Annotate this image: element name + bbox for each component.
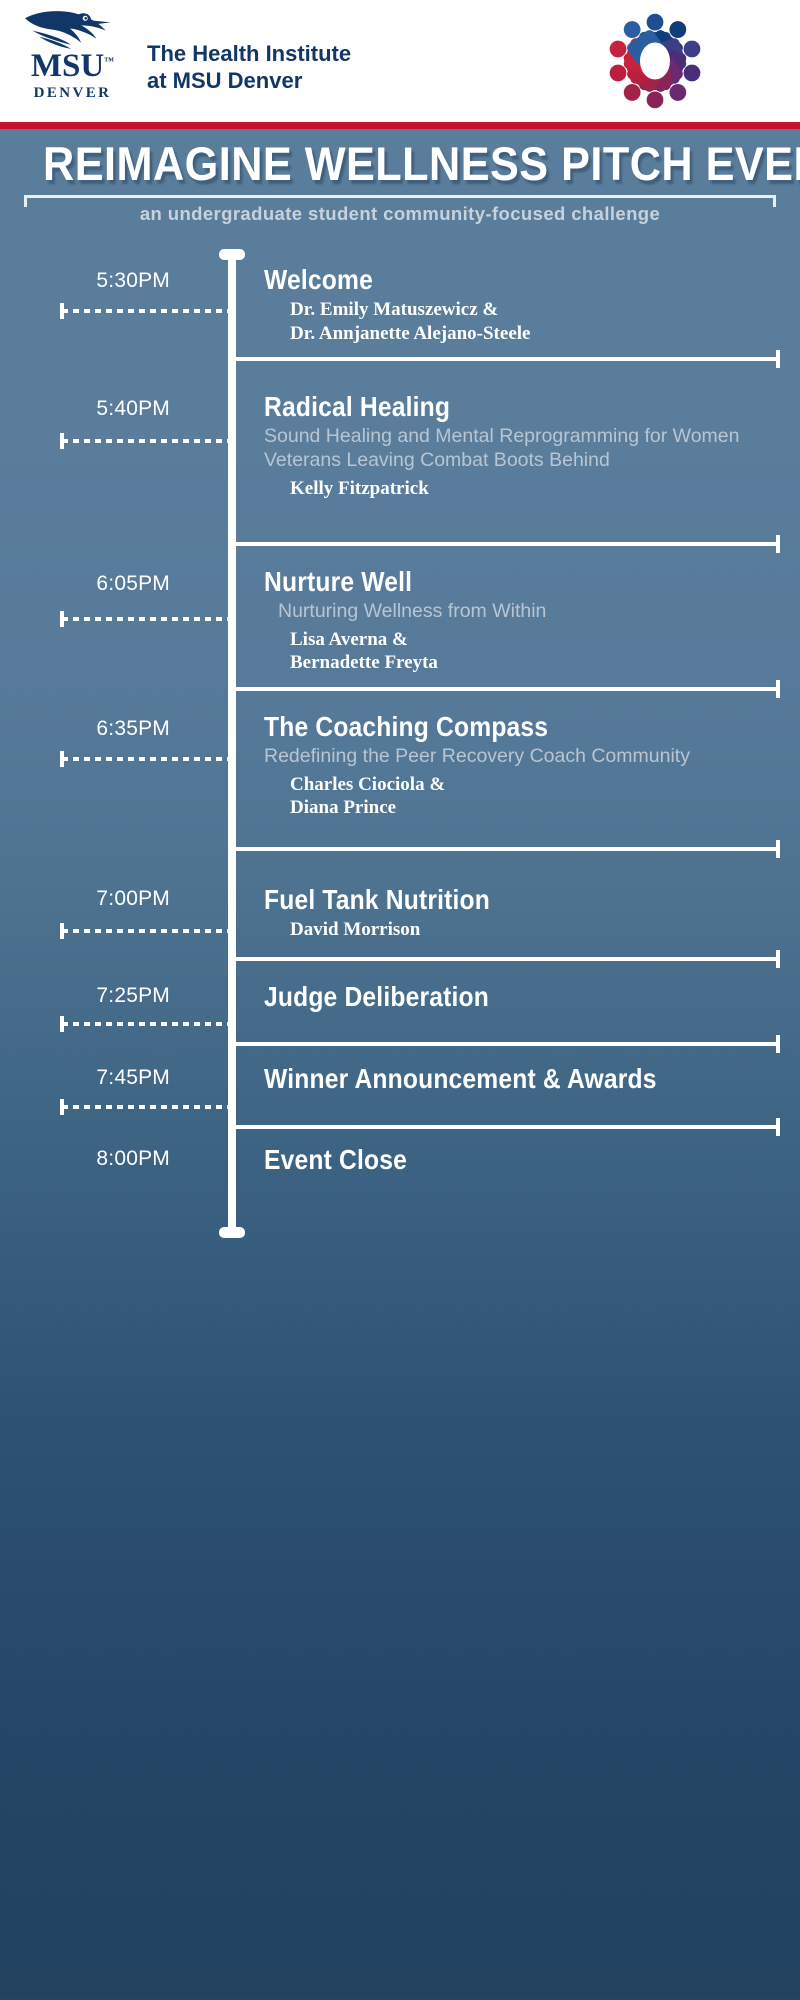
presenter-name: Charles Ciociola & [290, 773, 784, 796]
entry-separator-cap [776, 1118, 780, 1136]
page-header: MSU™ DENVER The Health Institute at MSU … [0, 0, 800, 122]
entry-description: Nurturing Wellness from Within [278, 600, 784, 624]
msu-wordmark: MSU™ [31, 50, 114, 83]
entry-content: Nurture WellNurturing Wellness from With… [264, 567, 784, 675]
presenter-name: Bernadette Freyta [290, 651, 784, 674]
entry-title: Judge Deliberation [264, 982, 722, 1011]
msu-denver-brand-lockup: MSU™ DENVER The Health Institute at MSU … [20, 8, 351, 103]
entry-description: Redefining the Peer Recovery Coach Commu… [264, 745, 784, 769]
msu-roadrunner-icon [22, 8, 124, 50]
red-accent-rule [0, 122, 800, 129]
entry-separator-cap [776, 950, 780, 968]
entry-time: 7:00PM [0, 887, 170, 911]
entry-separator [232, 542, 780, 546]
presenter-name: David Morrison [290, 918, 784, 941]
entry-title: Welcome [264, 265, 722, 294]
presenter-name: Dr. Emily Matuszewicz & [290, 298, 784, 321]
institute-name: The Health Institute at MSU Denver [147, 40, 351, 103]
presenter-name: Dr. Annjanette Alejano-Steele [290, 322, 784, 345]
entry-time: 7:45PM [0, 1066, 170, 1090]
entry-presenters: Lisa Averna &Bernadette Freyta [290, 628, 784, 674]
entry-content: Radical HealingSound Healing and Mental … [264, 392, 784, 500]
entry-time: 5:40PM [0, 397, 170, 421]
trademark-symbol: ™ [104, 56, 114, 67]
entry-title: Winner Announcement & Awards [264, 1064, 722, 1093]
entry-separator [232, 847, 780, 851]
entry-presenters: Kelly Fitzpatrick [290, 477, 784, 500]
dotted-connector [62, 929, 230, 933]
dotted-connector [62, 1022, 230, 1026]
timeline-spine [228, 257, 236, 1235]
dotted-connector [62, 309, 230, 313]
entry-description: Sound Healing and Mental Reprogramming f… [264, 425, 784, 473]
entry-separator-cap [776, 1035, 780, 1053]
timeline-cap-top [219, 249, 245, 260]
entry-time: 6:35PM [0, 717, 170, 741]
entry-title: Nurture Well [264, 567, 722, 596]
entry-content: Fuel Tank NutritionDavid Morrison [264, 885, 784, 942]
entry-separator [232, 357, 780, 361]
presenter-name: Kelly Fitzpatrick [290, 477, 784, 500]
entry-separator [232, 687, 780, 691]
entry-separator [232, 957, 780, 961]
entry-content: The Coaching CompassRedefining the Peer … [264, 712, 784, 820]
entry-content: WelcomeDr. Emily Matuszewicz &Dr. Annjan… [264, 265, 784, 345]
entry-time: 7:25PM [0, 984, 170, 1008]
entry-content: Judge Deliberation [264, 982, 784, 1011]
timeline-cap-bottom [219, 1227, 245, 1238]
entry-title: The Coaching Compass [264, 712, 722, 741]
title-section: REIMAGINE WELLNESS PITCH EVENT an underg… [0, 129, 800, 225]
entry-separator-cap [776, 840, 780, 858]
presenter-name: Diana Prince [290, 796, 784, 819]
entry-presenters: Dr. Emily Matuszewicz &Dr. Annjanette Al… [290, 298, 784, 344]
page-title: REIMAGINE WELLNESS PITCH EVENT [32, 141, 768, 187]
entry-time: 5:30PM [0, 269, 170, 293]
entry-separator-cap [776, 350, 780, 368]
dotted-connector [62, 1105, 230, 1109]
msu-logo-block: MSU™ DENVER [20, 8, 125, 103]
entry-title: Event Close [264, 1145, 722, 1174]
entry-presenters: Charles Ciociola &Diana Prince [290, 773, 784, 819]
entry-content: Event Close [264, 1145, 784, 1174]
entry-title: Radical Healing [264, 392, 722, 421]
agenda-timeline: 5:30PMWelcomeDr. Emily Matuszewicz &Dr. … [0, 247, 800, 1247]
entry-time: 6:05PM [0, 572, 170, 596]
entry-title: Fuel Tank Nutrition [264, 885, 722, 914]
entry-separator [232, 1125, 780, 1129]
entry-separator [232, 1042, 780, 1046]
dotted-connector [62, 757, 230, 761]
community-puzzle-ring-icon [602, 8, 708, 114]
entry-presenters: David Morrison [290, 918, 784, 941]
entry-time: 8:00PM [0, 1147, 170, 1171]
dotted-connector [62, 439, 230, 443]
entry-content: Winner Announcement & Awards [264, 1064, 784, 1093]
institute-name-line1: The Health Institute [147, 40, 351, 68]
presenter-name: Lisa Averna & [290, 628, 784, 651]
entry-separator-cap [776, 680, 780, 698]
institute-name-line2: at MSU Denver [147, 67, 351, 95]
entry-separator-cap [776, 535, 780, 553]
brand-divider [135, 51, 137, 103]
denver-wordmark: DENVER [34, 84, 112, 103]
page-subtitle: an undergraduate student community-focus… [0, 203, 800, 225]
dotted-connector [62, 617, 230, 621]
